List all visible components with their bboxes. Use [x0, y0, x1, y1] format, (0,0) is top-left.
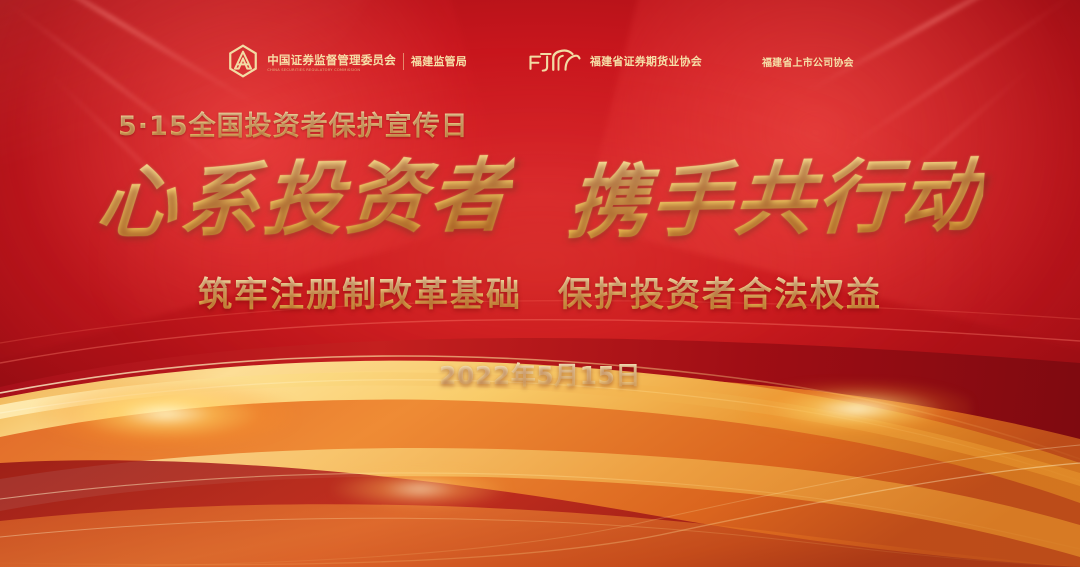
- event-date: 2022年5月15日: [439, 356, 641, 392]
- organizer-logo-strip: 中国证券监督管理委员会 CHINA SECURITIES REGULATORY …: [226, 40, 854, 82]
- flca-label: 福建省上市公司协会: [762, 54, 854, 69]
- csrc-name-en: CHINA SECURITIES REGULATORY COMMISSION: [267, 68, 396, 72]
- csrc-bureau-label: 福建监管局: [411, 53, 467, 69]
- csrc-wordmark: 中国证券监督管理委员会 CHINA SECURITIES REGULATORY …: [267, 49, 467, 72]
- organizer-fujian-listed-companies-association: 福建省上市公司协会: [762, 54, 854, 69]
- csrc-name-cn: 中国证券监督管理委员会: [267, 53, 396, 67]
- fj-swoosh-emblem-icon: [527, 46, 583, 76]
- headline-part-1: 心系投资者: [94, 153, 515, 245]
- campaign-day-subtitle: 5·15全国投资者保护宣传日: [118, 104, 469, 143]
- headline-part-2: 携手共行动: [565, 153, 986, 245]
- logo-divider: [403, 53, 404, 70]
- headline-calligraphy: 心系投资者 携手共行动: [0, 157, 1080, 241]
- investor-protection-banner: 中国证券监督管理委员会 CHINA SECURITIES REGULATORY …: [0, 0, 1080, 567]
- campaign-tagline: 筑牢注册制改革基础 保护投资者合法权益: [198, 267, 882, 316]
- csrc-name-block: 中国证券监督管理委员会 CHINA SECURITIES REGULATORY …: [267, 49, 396, 72]
- csrc-hexagon-emblem-icon: [226, 44, 260, 78]
- organizer-csrc-fujian: 中国证券监督管理委员会 CHINA SECURITIES REGULATORY …: [226, 44, 467, 78]
- fjsa-label: 福建省证券期货业协会: [590, 53, 702, 69]
- banner-content: 中国证券监督管理委员会 CHINA SECURITIES REGULATORY …: [0, 0, 1080, 567]
- organizer-fujian-securities-futures-association: 福建省证券期货业协会: [527, 46, 702, 76]
